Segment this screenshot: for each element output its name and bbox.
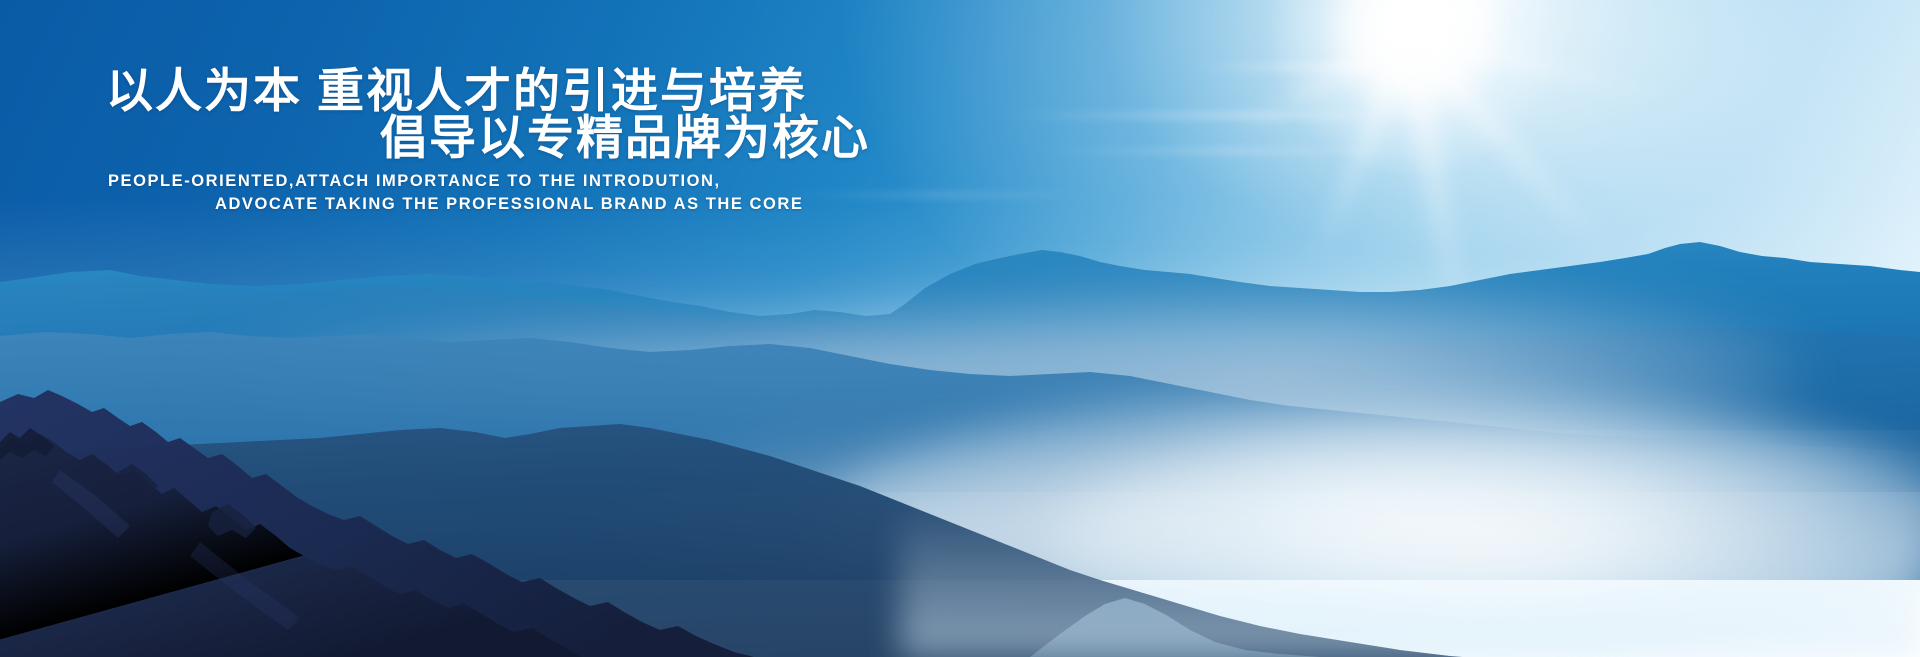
foreground-rocky-mountain bbox=[0, 330, 1920, 657]
subheadline-line-1: PEOPLE-ORIENTED,ATTACH IMPORTANCE TO THE… bbox=[108, 172, 721, 191]
hero-banner: 以人为本 重视人才的引进与培养 倡导以专精品牌为核心 PEOPLE-ORIENT… bbox=[0, 0, 1920, 657]
subheadline-line-2: ADVOCATE TAKING THE PROFESSIONAL BRAND A… bbox=[215, 195, 803, 214]
headline-line-2: 倡导以专精品牌为核心 bbox=[380, 110, 870, 165]
